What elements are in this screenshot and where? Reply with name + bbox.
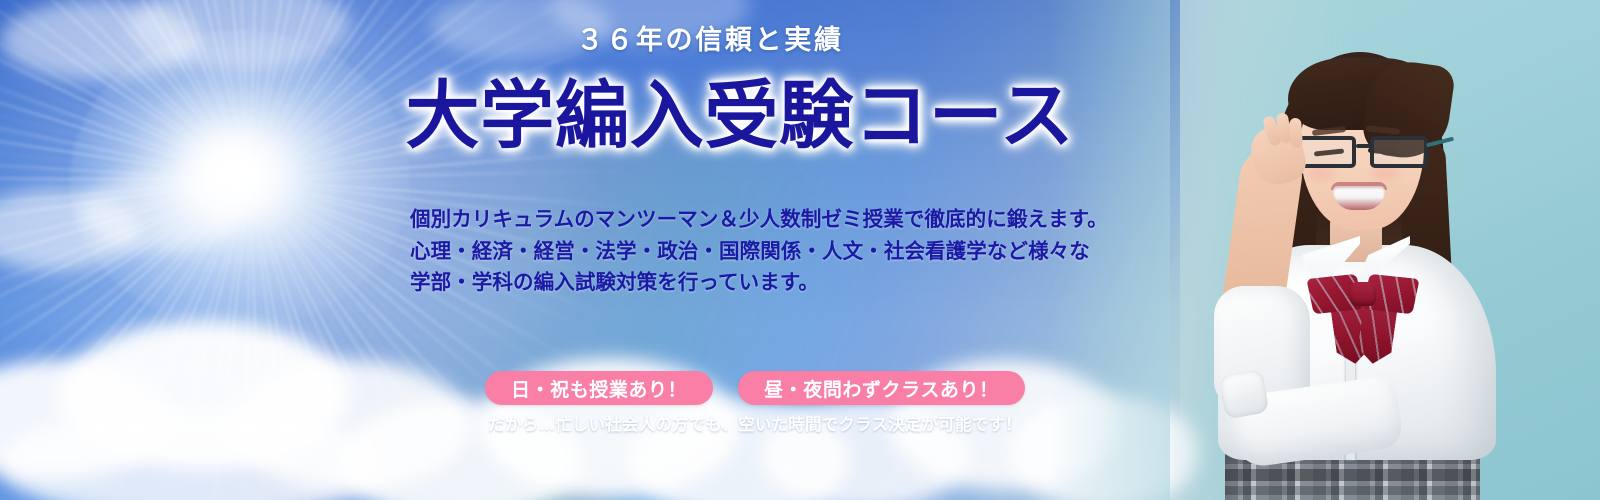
student-portrait bbox=[1170, 0, 1600, 500]
lead-line-2: 心理・経済・経営・法学・政治・国際関係・人文・社会看護学など様々な bbox=[410, 236, 1100, 268]
banner-kicker: ３６年の信頼と実績 bbox=[0, 18, 1420, 57]
badge-row: 日・祝も授業あり！ 昼・夜問わずクラスあり！ bbox=[485, 371, 1025, 405]
eyeglasses-icon bbox=[1294, 136, 1434, 176]
lead-line-3: 学部・学科の編入試験対策を行っています。 bbox=[410, 267, 1100, 299]
shirt-cuff bbox=[1219, 369, 1270, 420]
banner-tagline: だから…忙しい社会人の方でも、空いた時間でクラス決定が可能です！ bbox=[485, 411, 1025, 435]
badge-day-night-classes[interactable]: 昼・夜問わずクラスあり！ bbox=[738, 371, 1024, 405]
lead-paragraph: 個別カリキュラムのマンツーマン＆少人数制ゼミ授業で徹底的に鍛えます。 心理・経済… bbox=[410, 204, 1100, 299]
page-title: 大学編入受験コース bbox=[400, 76, 1080, 156]
lead-line-1: 個別カリキュラムのマンツーマン＆少人数制ゼミ授業で徹底的に鍛えます。 bbox=[410, 204, 1100, 236]
badge-sunday-holiday-classes[interactable]: 日・祝も授業あり！ bbox=[485, 371, 713, 405]
promo-banner: ３６年の信頼と実績 大学編入受験コース 個別カリキュラムのマンツーマン＆少人数制… bbox=[0, 0, 1600, 500]
red-ribbon-tie bbox=[1310, 272, 1416, 368]
cloud-mid-left bbox=[0, 160, 270, 280]
finger bbox=[1289, 118, 1303, 149]
